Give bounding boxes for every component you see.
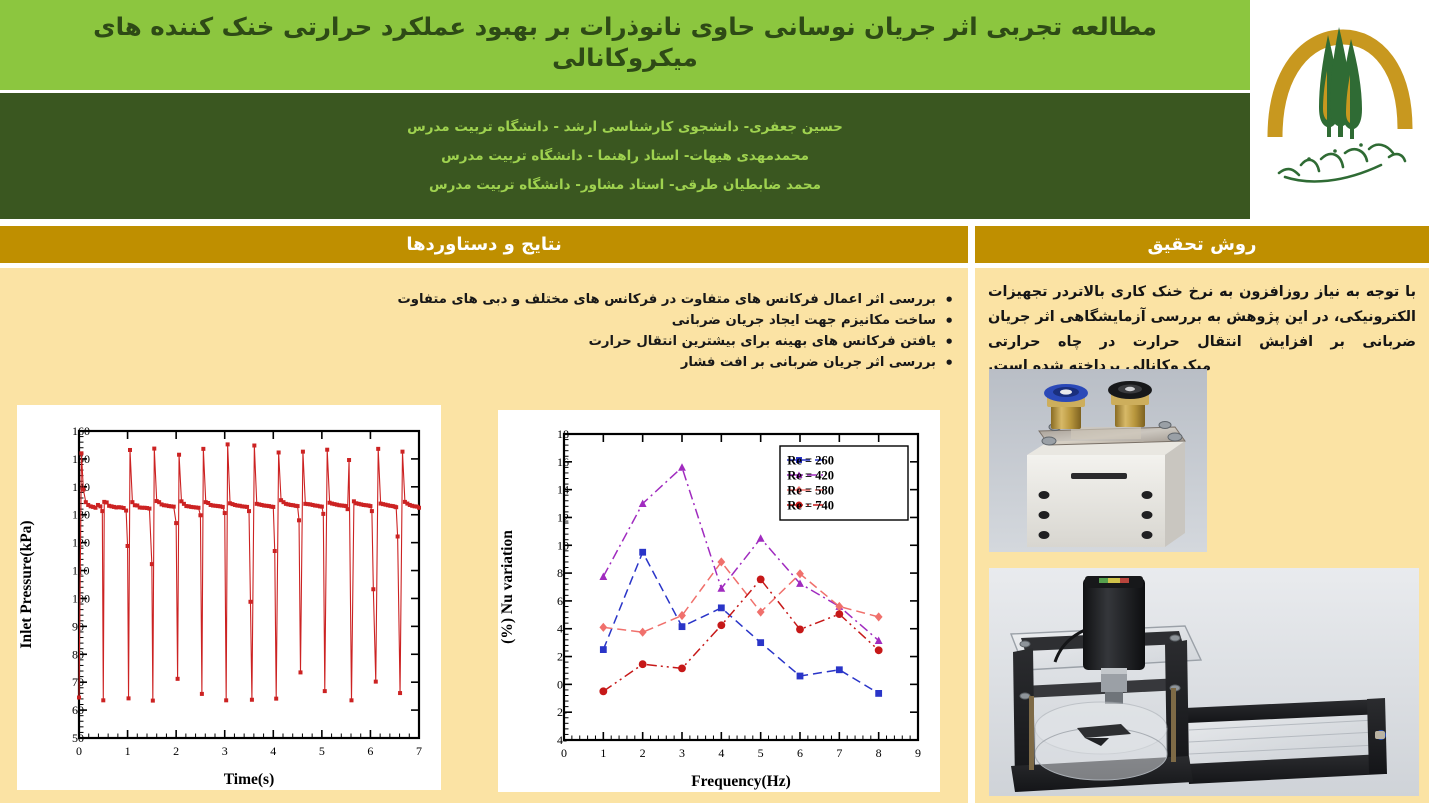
data-point-marker [599, 572, 607, 579]
data-point-marker [370, 509, 374, 513]
section-header-results: نتایج و دستاوردها [0, 226, 968, 263]
list-item: ساخت مکانیزم جهت ایجاد جریان ضربانی [274, 311, 954, 332]
legend-label-3: Re = 740 [787, 499, 834, 513]
data-point-marker [639, 628, 647, 637]
inlet-pressure-chart: 506070809010011012013014015016001234567T… [17, 405, 441, 790]
data-point-marker [223, 511, 227, 515]
method-paragraph: با توجه به نیاز روزافزون به نرخ خنک کاری… [988, 280, 1416, 379]
data-point-marker [346, 507, 350, 511]
data-point-marker [248, 600, 252, 604]
data-point-marker [347, 458, 351, 462]
data-point-marker [875, 646, 883, 654]
series-line-0 [79, 444, 419, 700]
x-tick-label: 7 [416, 744, 422, 758]
data-point-marker [875, 690, 882, 697]
data-point-marker [600, 646, 607, 653]
x-tick-label: 0 [561, 746, 567, 760]
data-point-marker [273, 549, 277, 553]
data-point-marker [152, 447, 156, 451]
section-header-results-label: نتایج و دستاوردها [406, 234, 561, 255]
data-point-marker [147, 507, 151, 511]
y-tick-label: 16 [557, 455, 569, 469]
data-point-marker [176, 677, 180, 681]
data-point-marker [836, 666, 843, 673]
inlet-pressure-chart-card: 506070809010011012013014015016001234567T… [17, 405, 441, 790]
data-point-marker [678, 463, 686, 470]
data-point-marker [245, 505, 249, 509]
y-tick-label: 4 [557, 622, 563, 636]
y-tick-label: 14 [557, 483, 569, 497]
legend-label-2: Re = 580 [787, 484, 834, 498]
y-tick-label: 50 [72, 731, 84, 745]
data-point-marker [250, 698, 254, 702]
data-point-marker [323, 689, 327, 693]
data-point-marker [417, 506, 421, 510]
data-point-marker [151, 699, 155, 703]
y-axis-title: Inlet Pressure(kPa) [18, 520, 35, 648]
data-point-marker [639, 549, 646, 556]
data-point-marker [277, 450, 281, 454]
data-point-marker [128, 448, 132, 452]
data-point-marker [639, 660, 647, 668]
x-tick-label: 0 [76, 744, 82, 758]
tarbiat-modares-logo-icon [1265, 25, 1415, 195]
data-point-marker [757, 534, 765, 541]
data-point-marker [678, 664, 686, 672]
x-tick-label: 9 [915, 746, 921, 760]
data-point-marker [717, 621, 725, 629]
data-point-marker [875, 612, 883, 621]
data-point-marker [757, 575, 765, 583]
y-tick-label: -4 [557, 733, 567, 747]
x-tick-label: 6 [367, 744, 373, 758]
data-point-marker [599, 687, 607, 695]
x-tick-label: 2 [640, 746, 646, 760]
x-tick-label: 5 [319, 744, 325, 758]
data-point-marker [274, 697, 278, 701]
data-point-marker [252, 444, 256, 448]
data-point-marker [150, 562, 154, 566]
y-tick-label: 0 [557, 677, 563, 691]
data-point-marker [177, 453, 181, 457]
data-point-marker [101, 698, 105, 702]
y-tick-label: 100 [72, 591, 90, 605]
data-point-marker [221, 505, 225, 509]
nu-variation-chart: -4-20246810121416180123456789Frequency(H… [498, 410, 940, 792]
data-point-marker [368, 504, 372, 508]
poster-title-bar: مطالعه تجربی اثر جریان نوسانی حاوی نانوذ… [0, 0, 1250, 90]
x-tick-label: 7 [836, 746, 842, 760]
nu-variation-chart-card: -4-20246810121416180123456789Frequency(H… [498, 410, 940, 792]
list-item: یافتن فرکانس های بهینه برای بیشترین انتق… [274, 332, 954, 353]
x-tick-label: 2 [173, 744, 179, 758]
list-item: بررسی اثر اعمال فرکانس های متفاوت در فرک… [274, 290, 954, 311]
data-point-marker [679, 623, 686, 630]
x-tick-label: 5 [758, 746, 764, 760]
y-tick-label: 18 [557, 427, 569, 441]
data-point-marker [371, 587, 375, 591]
x-axis-title: Frequency(Hz) [691, 773, 791, 790]
list-item: بررسی اثر جریان ضربانی بر افت فشار [274, 353, 954, 374]
y-tick-label: 8 [557, 566, 563, 580]
data-point-marker [349, 698, 353, 702]
data-point-marker [400, 450, 404, 454]
legend-label-0: Re = 260 [787, 454, 834, 468]
section-header-method-label: روش تحقیق [1148, 234, 1257, 255]
data-point-marker [835, 610, 843, 618]
x-tick-label: 3 [679, 746, 685, 760]
x-tick-label: 8 [876, 746, 882, 760]
data-point-marker [376, 447, 380, 451]
y-tick-label: 10 [557, 538, 569, 552]
data-point-marker [297, 518, 301, 522]
data-point-marker [79, 451, 83, 455]
author-line-2: محمدمهدی هیهات- استاد راهنما - دانشگاه ت… [441, 148, 809, 164]
y-tick-label: -2 [557, 705, 567, 719]
results-bullet-list: بررسی اثر اعمال فرکانس های متفاوت در فرک… [274, 290, 954, 373]
data-point-marker [394, 505, 398, 509]
y-tick-label: 60 [72, 703, 84, 717]
y-axis-title: Nu variation (%) [499, 530, 516, 644]
data-point-marker [325, 448, 329, 452]
series-line-2 [603, 562, 878, 632]
y-tick-label: 90 [72, 619, 84, 633]
series-line-3 [603, 579, 878, 691]
data-point-marker [77, 696, 81, 700]
y-tick-label: 12 [557, 510, 569, 524]
data-point-marker [757, 639, 764, 646]
data-point-marker [320, 505, 324, 509]
microchannel-heat-sink-photo [989, 369, 1207, 552]
x-tick-label: 6 [797, 746, 803, 760]
data-point-marker [321, 512, 325, 516]
page-title: مطالعه تجربی اثر جریان نوسانی حاوی نانوذ… [60, 12, 1190, 74]
x-axis-title: Time(s) [224, 771, 275, 788]
x-tick-label: 1 [600, 746, 606, 760]
x-tick-label: 3 [222, 744, 228, 758]
x-tick-label: 1 [125, 744, 131, 758]
author-line-3: محمد ضابطیان طرقی- استاد مشاور- دانشگاه … [429, 177, 821, 193]
data-point-marker [296, 504, 300, 508]
data-point-marker [226, 442, 230, 446]
heat-sink-image [989, 369, 1207, 552]
y-tick-label: 6 [557, 594, 563, 608]
data-point-marker [174, 521, 178, 525]
data-point-marker [198, 513, 202, 517]
data-point-marker [124, 509, 128, 513]
y-tick-label: 160 [72, 424, 90, 438]
y-tick-label: 2 [557, 650, 563, 664]
data-point-marker [200, 692, 204, 696]
x-tick-label: 4 [718, 746, 724, 760]
data-point-marker [271, 505, 275, 509]
data-point-marker [98, 504, 102, 508]
data-point-marker [374, 680, 378, 684]
x-tick-label: 4 [270, 744, 276, 758]
data-point-marker [298, 670, 302, 674]
poster-root: مطالعه تجربی اثر جریان نوسانی حاوی نانوذ… [0, 0, 1429, 803]
data-point-marker [718, 604, 725, 611]
author-line-1: حسین جعفری- دانشجوی کارشناسی ارشد - دانش… [407, 119, 843, 135]
data-point-marker [398, 691, 402, 695]
data-point-marker [599, 623, 607, 632]
logo-wrap [1265, 25, 1415, 195]
section-header-method: روش تحقیق [975, 226, 1429, 263]
data-point-marker [100, 509, 104, 513]
data-point-marker [796, 626, 804, 634]
data-point-marker [196, 506, 200, 510]
data-point-marker [201, 447, 205, 451]
data-point-marker [224, 698, 228, 702]
data-point-marker [127, 696, 131, 700]
data-point-marker [301, 450, 305, 454]
data-point-marker [172, 505, 176, 509]
y-tick-label: 80 [72, 647, 84, 661]
pulsation-mechanism-rig-photo [989, 568, 1419, 796]
data-point-marker [396, 534, 400, 538]
y-tick-label: 70 [72, 675, 84, 689]
pulsation-rig-image [989, 568, 1419, 796]
data-point-marker [247, 509, 251, 513]
data-point-marker [126, 544, 130, 548]
data-point-marker [797, 673, 804, 680]
data-point-marker [81, 488, 85, 492]
legend-label-1: Re = 420 [787, 469, 834, 483]
authors-bar: حسین جعفری- دانشجوی کارشناسی ارشد - دانش… [0, 93, 1250, 219]
university-logo [1250, 0, 1429, 219]
